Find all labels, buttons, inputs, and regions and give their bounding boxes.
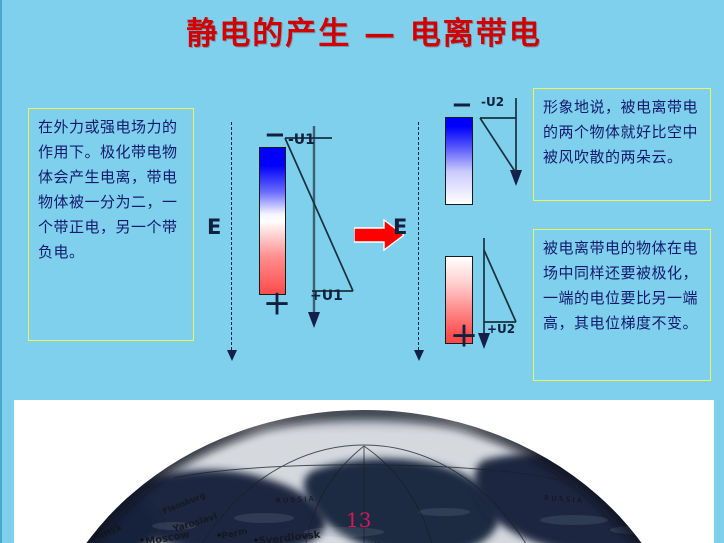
callout-left: 在外力或强电场力的作用下。极化带电物体会产生电离，带电物体被一分为二，一个带正电… [28, 108, 194, 341]
polarity-minus-right-top: − [451, 92, 473, 118]
potential-label-minus-u2: -U2 [481, 95, 504, 109]
page-number: 13 [346, 508, 371, 532]
charge-bar-right-top [445, 117, 473, 205]
arrowhead-icon [227, 350, 237, 361]
callout-top-right: 形象地说，被电离带电的两个物体就好比空中被风吹散的两朵云。 [533, 88, 711, 201]
arrowhead-icon [414, 350, 424, 361]
polarity-plus-left: ＋ [263, 291, 291, 319]
potential-label-plus-u1: +U1 [310, 288, 343, 304]
page-title: 静电的产生 — 电离带电 [2, 8, 724, 53]
potential-graph-right-bottom [468, 238, 538, 363]
field-label-right: E [393, 215, 407, 239]
potential-label-minus-u1: -U1 [288, 132, 315, 148]
charge-bar-left [259, 147, 286, 295]
field-line-right-arrow [418, 122, 419, 350]
polarity-minus-left: − [264, 122, 286, 148]
potential-label-plus-u2: +U2 [487, 322, 515, 336]
slide-canvas: 静电的产生 — 电离带电 在外力或强电场力的作用下。极化带电物体会产生电离，带电… [0, 0, 724, 543]
potential-graph-right-top [480, 98, 540, 218]
field-line-left-arrow [231, 122, 232, 350]
callout-bottom-right: 被电离带电的物体在电场中同样还要被极化，一端的电位要比另一端高，其电位梯度不变。 [533, 229, 711, 381]
field-label-left: E [207, 215, 221, 239]
